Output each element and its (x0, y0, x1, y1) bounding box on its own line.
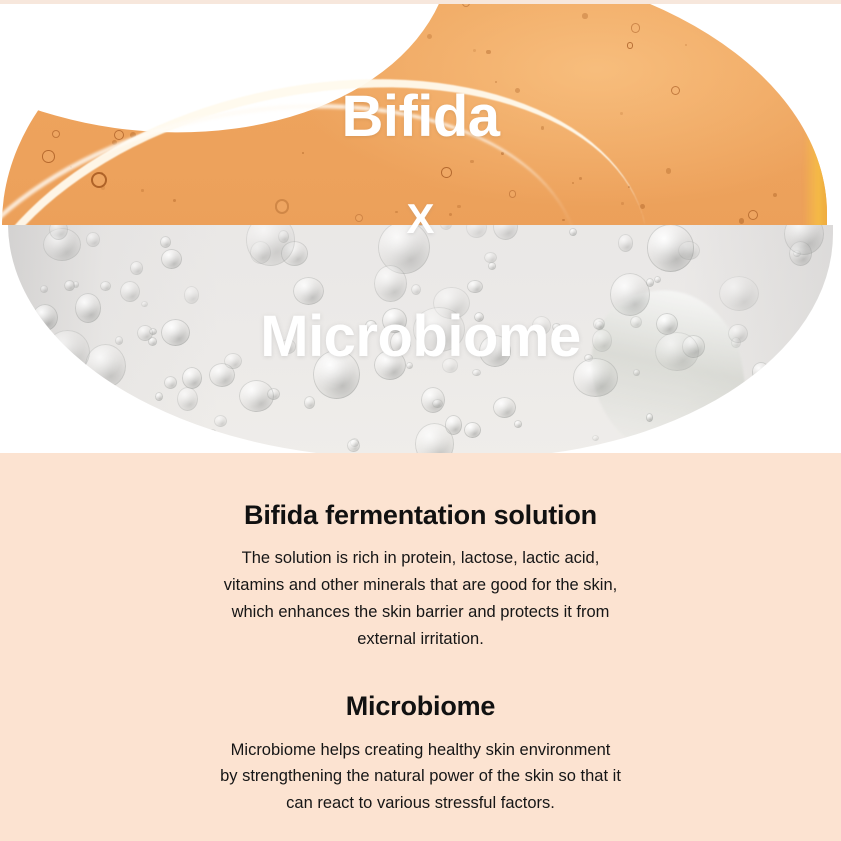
gel-bubble (464, 422, 481, 438)
gel-bubble (739, 218, 744, 223)
gel-bubble (466, 225, 487, 238)
gel-bubble (610, 273, 650, 315)
gel-bubble (40, 285, 49, 293)
gel-bubble (293, 277, 324, 305)
gel-bubble (484, 252, 497, 263)
gel-bubble (671, 86, 680, 95)
gel-bubble (767, 39, 784, 56)
gel-bubble (75, 293, 101, 322)
gel-bubble (592, 435, 599, 441)
gel-bubble (427, 34, 432, 39)
paragraph-line: vitamins and other minerals that are goo… (0, 572, 841, 599)
gel-bubble (633, 369, 640, 375)
paragraph-line: by strengthening the natural power of th… (0, 763, 841, 790)
gel-bubble (374, 350, 406, 379)
paragraph-line: The solution is rich in protein, lactose… (0, 545, 841, 572)
gel-bubble (347, 439, 360, 452)
gel-bubble (141, 301, 147, 307)
gel-bubble (177, 387, 198, 411)
gel-bubble (86, 232, 99, 247)
gel-bubble (114, 130, 124, 140)
gel-bubble (719, 276, 759, 311)
info-panel: Bifida fermentation solution The solutio… (0, 453, 841, 841)
gel-bubble (161, 319, 190, 346)
gel-bubble (593, 318, 605, 330)
paragraph-line: external irritation. (0, 626, 841, 653)
gel-bubble (115, 336, 123, 345)
gel-bubble (620, 112, 623, 115)
gel-bubble (214, 415, 227, 427)
gel-bubble (685, 44, 687, 46)
gel-bubble (85, 344, 126, 388)
gel-bubble (45, 330, 89, 374)
gel-bubble (137, 325, 153, 341)
gel-bubble (666, 168, 671, 173)
gel-bubble (495, 81, 497, 83)
paragraph-line: which enhances the skin barrier and prot… (0, 599, 841, 626)
gel-bubble (627, 42, 633, 48)
gel-bubble (515, 88, 520, 93)
gel-bubble (313, 350, 360, 399)
gel-bubble (488, 262, 496, 269)
top-accent-strip (0, 0, 841, 4)
gel-bubble (411, 284, 421, 295)
gel-bubble (514, 420, 522, 427)
gel-bubble (640, 204, 645, 209)
gel-bubble (365, 320, 377, 333)
gel-bubble (748, 210, 758, 220)
gel-bubble (655, 332, 698, 371)
gel-bubble (280, 339, 297, 354)
gel-bubble (224, 353, 242, 369)
gel-bubble (52, 130, 60, 138)
gel-bubble (100, 281, 111, 291)
gel-bubble (32, 304, 58, 331)
gel-bubble (721, 417, 729, 426)
gel-bubble (406, 362, 413, 370)
gel-bubble (42, 150, 55, 163)
gel-bubble (239, 380, 274, 412)
gel-bubble (164, 376, 177, 388)
gel-bubble (479, 335, 511, 368)
product-detail-page: Bifida X Microbiome Bifida fermentation … (0, 0, 841, 841)
heading-bifida-fermentation-solution: Bifida fermentation solution (0, 499, 841, 531)
gel-bubble (654, 276, 660, 283)
gel-bubble (493, 225, 518, 240)
gel-bubble (210, 429, 217, 436)
gel-bubble (109, 402, 139, 434)
gel-bubble (773, 193, 777, 197)
paragraph-line: Microbiome helps creating healthy skin e… (0, 737, 841, 764)
gel-bubble (618, 234, 634, 252)
paragraph-line: can react to various stressful factors. (0, 790, 841, 817)
gel-bubble (64, 280, 75, 291)
gel-bubble (631, 23, 640, 32)
gel-bubble (569, 228, 577, 237)
gel-bubble (532, 316, 551, 335)
clear-gel-half (0, 225, 841, 453)
gel-bubble (184, 286, 200, 304)
heading-microbiome: Microbiome (0, 690, 841, 722)
paragraph-microbiome: Microbiome helps creating healthy skin e… (0, 737, 841, 817)
gel-bubble (474, 312, 484, 322)
gel-bubble (467, 280, 483, 293)
gel-bubble (442, 358, 458, 372)
paragraph-bifida-fermentation-solution: The solution is rich in protein, lactose… (0, 545, 841, 652)
gel-bubble (374, 265, 406, 302)
gel-bubble (647, 225, 695, 272)
gel-bubble (413, 307, 464, 352)
gel-bubble (493, 397, 516, 418)
gel-bubble (390, 331, 410, 354)
gel-bubble (304, 396, 315, 408)
gel-bubble (120, 281, 140, 303)
gel-bubble (573, 358, 618, 396)
gel-bubble (473, 49, 476, 52)
gel-bubble (582, 13, 587, 18)
gel-bubble (646, 413, 653, 421)
clear-gel-mass (8, 225, 833, 453)
gel-bubble (486, 50, 491, 55)
gel-bubble (472, 369, 481, 377)
gel-bubble (552, 323, 561, 331)
gel-bubble (155, 392, 163, 401)
gel-bubble (440, 225, 452, 230)
gel-bubble (789, 386, 816, 412)
gel-bubble (382, 308, 407, 333)
gel-bubble (630, 316, 642, 329)
gel-bubble (592, 329, 612, 352)
hero-gel-image: Bifida X Microbiome (0, 0, 841, 453)
